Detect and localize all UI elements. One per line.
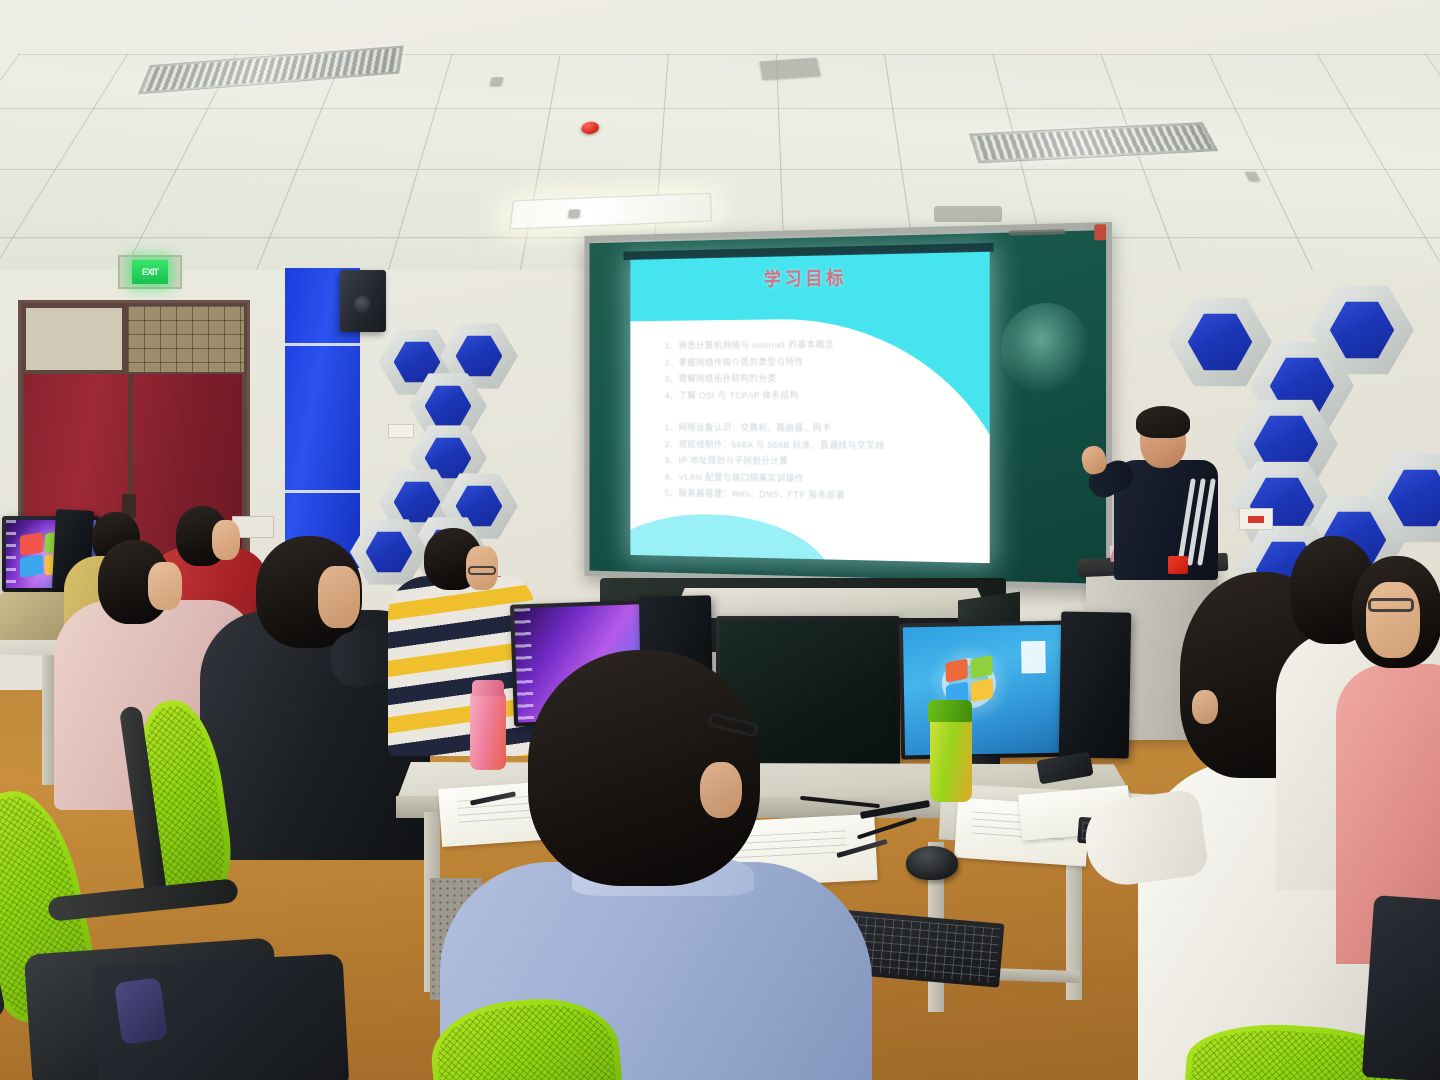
board-sensor-icon bbox=[1094, 224, 1106, 240]
water-bottle-pink[interactable] bbox=[470, 692, 506, 770]
glasses-icon bbox=[468, 566, 496, 575]
student-white-coat-ear bbox=[1192, 690, 1218, 724]
hex-shelf bbox=[1310, 284, 1414, 376]
monitor-right[interactable] bbox=[899, 621, 1073, 760]
computer-mouse[interactable] bbox=[906, 846, 958, 880]
student-red-top-face bbox=[212, 520, 240, 560]
backpack-strap bbox=[114, 977, 168, 1045]
notebook-lines bbox=[734, 830, 847, 862]
bottle-cap-icon bbox=[928, 700, 972, 722]
door-transom-window bbox=[26, 308, 122, 370]
shelf-item-box bbox=[1239, 508, 1273, 530]
slide-line: 1、网络设备认识：交换机、路由器、网卡 bbox=[665, 420, 969, 438]
chalkboard-assembly: 学习目标 1、熟悉计算机网络与 Internet 的基本概念 2、掌握网络传输介… bbox=[584, 222, 1112, 590]
monitor-screen bbox=[903, 625, 1069, 756]
water-bottle-green[interactable] bbox=[930, 716, 972, 802]
hex-wall-decor-left bbox=[378, 328, 528, 558]
windows-logo-icon bbox=[971, 678, 993, 702]
hex-shelf bbox=[1368, 452, 1440, 544]
slide-line: 2、掌握网络传输介质的类型与特性 bbox=[665, 353, 969, 372]
student-pink-coat-face bbox=[148, 562, 182, 610]
column-seam bbox=[285, 343, 360, 346]
slide-body: 1、熟悉计算机网络与 Internet 的基本概念 2、掌握网络传输介质的类型与… bbox=[665, 335, 969, 506]
monitor-back bbox=[1059, 611, 1132, 758]
windows-logo-icon bbox=[20, 532, 43, 555]
ceiling-hook bbox=[490, 77, 504, 86]
slide-line: 3、理解网络拓扑结构的分类 bbox=[665, 370, 969, 388]
board-glare bbox=[1001, 302, 1090, 394]
classroom-photo: EXIT bbox=[0, 0, 1440, 1080]
ceiling-hook bbox=[568, 209, 581, 218]
desk-center-back-top bbox=[672, 588, 990, 618]
windows-logo-icon bbox=[970, 655, 992, 679]
student-black-top-face bbox=[318, 566, 360, 628]
hex-shelf bbox=[350, 518, 428, 586]
backpack[interactable] bbox=[1362, 895, 1440, 1080]
desktop-window bbox=[1021, 641, 1046, 673]
student-blue-shirt-ear bbox=[700, 762, 742, 818]
slide-line-spacer bbox=[665, 404, 969, 421]
instructor-hair bbox=[1136, 406, 1190, 438]
projected-slide: 学习目标 1、熟悉计算机网络与 Internet 的基本概念 2、掌握网络传输介… bbox=[630, 251, 989, 563]
student-pink-shirt-face bbox=[1366, 582, 1420, 658]
speaker-cone-icon bbox=[354, 296, 371, 313]
exit-sign-icon: EXIT bbox=[132, 260, 168, 284]
exit-sign: EXIT bbox=[118, 255, 182, 289]
door-transom-grille bbox=[128, 306, 244, 372]
column-seam bbox=[285, 490, 360, 493]
windows-logo-icon bbox=[946, 658, 968, 682]
glasses-icon[interactable] bbox=[1368, 598, 1414, 612]
instructor-badge bbox=[1168, 556, 1188, 574]
desk-leg bbox=[42, 655, 54, 785]
projector-mount bbox=[934, 206, 1002, 222]
instructor bbox=[1096, 410, 1234, 580]
slide-line: 4、了解 OSI 与 TCP/IP 体系结构 bbox=[665, 387, 969, 404]
bottle-cap-icon bbox=[472, 680, 504, 696]
windows-logo-icon bbox=[20, 554, 43, 577]
